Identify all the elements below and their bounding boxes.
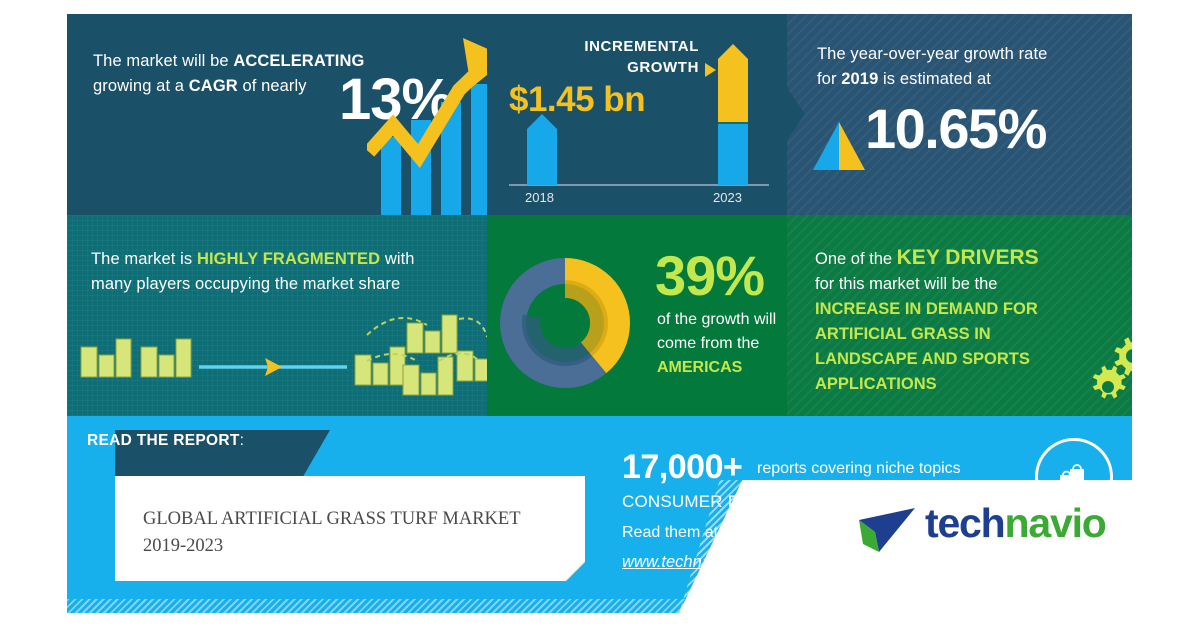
cagr-text-1: The market will be bbox=[93, 52, 233, 70]
infographic-canvas: The market will be ACCELERATING growing … bbox=[67, 14, 1132, 613]
drivers-text-2: for this market will be the bbox=[815, 275, 997, 293]
report-title: GLOBAL ARTIFICIAL GRASS TURF MARKET 2019… bbox=[143, 506, 563, 560]
frag-text-1-post: with bbox=[380, 250, 414, 268]
donut-sub-2: come from the bbox=[657, 335, 759, 352]
website-link[interactable]: www.technavio.com bbox=[622, 553, 768, 572]
building-cluster-left-1 bbox=[81, 339, 131, 377]
footer-row: READ THE REPORT: GLOBAL ARTIFICIAL GRASS… bbox=[67, 416, 1132, 613]
technavio-logo-icon bbox=[857, 504, 919, 556]
building-cluster-right-2 bbox=[407, 315, 457, 353]
incremental-growth-label: INCREMENTAL GROWTH bbox=[509, 36, 699, 78]
panel-fragmented: The market is HIGHLY FRAGMENTED with man… bbox=[67, 215, 487, 416]
report-title-line1: GLOBAL ARTIFICIAL GRASS TURF MARKET bbox=[143, 509, 521, 529]
fragmentation-diagram bbox=[67, 311, 487, 416]
panel-key-drivers: One of the KEY DRIVERS for this market w… bbox=[787, 215, 1132, 416]
frag-text-1-pre: The market is bbox=[91, 250, 197, 268]
dashed-arc-2 bbox=[459, 318, 487, 337]
report-count: 17,000+ bbox=[622, 448, 742, 487]
frag-text-1-bold: HIGHLY FRAGMENTED bbox=[197, 250, 380, 268]
yoy-statement: The year-over-year growth rate for 2019 … bbox=[817, 42, 1117, 92]
report-title-line2: 2019-2023 bbox=[143, 536, 223, 556]
year-label-end: 2023 bbox=[713, 190, 742, 205]
yoy-value: 10.65% bbox=[865, 96, 1046, 161]
panel-regional-share: 39% of the growth will come from the AME… bbox=[487, 215, 787, 416]
technavio-wordmark: technavio bbox=[925, 500, 1106, 547]
donut-chart bbox=[495, 253, 635, 393]
incremental-label-line1: INCREMENTAL bbox=[584, 38, 699, 55]
page-fold-corner bbox=[565, 561, 585, 581]
cagr-text-2-bold: CAGR bbox=[189, 77, 238, 95]
play-triangle-icon bbox=[705, 63, 716, 77]
building-cluster-right-1 bbox=[355, 347, 405, 385]
report-count-caption: reports covering niche topics bbox=[757, 460, 961, 478]
donut-sub-1: of the growth will bbox=[657, 311, 776, 328]
infographic-root: The market will be ACCELERATING growing … bbox=[0, 0, 1200, 627]
read-the-report-label: READ THE REPORT: bbox=[87, 432, 244, 450]
yoy-text-2-post: is estimated at bbox=[878, 70, 991, 88]
year-label-start: 2018 bbox=[525, 190, 554, 205]
panel-yoy-growth: The year-over-year growth rate for 2019 … bbox=[787, 14, 1132, 215]
panel-incremental-growth: INCREMENTAL GROWTH $1.45 bn 2018 2023 bbox=[487, 14, 787, 215]
up-triangle-icon bbox=[811, 120, 867, 172]
read-the-report-colon: : bbox=[240, 432, 245, 449]
donut-hole bbox=[540, 298, 590, 348]
drivers-highlight-4: APPLICATIONS bbox=[815, 375, 937, 393]
drivers-highlight-3: LANDSCAPE AND SPORTS bbox=[815, 350, 1030, 368]
gear-large-icon bbox=[1114, 337, 1132, 376]
drivers-highlight-1: INCREASE IN DEMAND FOR bbox=[815, 300, 1038, 318]
frag-text-2: many players occupying the market share bbox=[91, 275, 400, 293]
bar-2023-increment bbox=[718, 44, 748, 122]
logo-text-navio: navio bbox=[1005, 500, 1106, 546]
yoy-text-1: The year-over-year growth rate bbox=[817, 45, 1047, 63]
building-cluster-left-2 bbox=[141, 339, 191, 377]
cagr-text-2: growing at a bbox=[93, 77, 189, 95]
cagr-trend-line bbox=[369, 65, 485, 156]
drivers-highlight-2: ARTIFICIAL GRASS IN bbox=[815, 325, 991, 343]
shopping-bag-icon bbox=[1052, 455, 1096, 499]
donut-value: 39% bbox=[655, 243, 764, 308]
cagr-bar-chart bbox=[367, 32, 487, 215]
panel-divider-chevron bbox=[779, 76, 805, 152]
read-the-report-text: READ THE REPORT bbox=[87, 432, 240, 449]
cagr-bar-4 bbox=[471, 84, 487, 215]
incremental-label-line2: GROWTH bbox=[627, 59, 699, 76]
drivers-text-1-bold: KEY DRIVERS bbox=[897, 246, 1039, 269]
report-card[interactable]: GLOBAL ARTIFICIAL GRASS TURF MARKET 2019… bbox=[115, 476, 585, 581]
panel-cagr: The market will be ACCELERATING growing … bbox=[67, 14, 487, 215]
triangle-left-half bbox=[813, 122, 839, 170]
gears-icon bbox=[1083, 327, 1132, 407]
top-row: The market will be ACCELERATING growing … bbox=[67, 14, 1132, 215]
donut-caption: of the growth will come from the AMERICA… bbox=[657, 308, 787, 380]
drivers-statement: One of the KEY DRIVERS for this market w… bbox=[815, 245, 1105, 397]
middle-row: The market is HIGHLY FRAGMENTED with man… bbox=[67, 215, 1132, 416]
segment-label: CONSUMER DISCRETIONARY bbox=[622, 492, 870, 512]
incremental-growth-value: $1.45 bn bbox=[509, 80, 645, 120]
triangle-right-half bbox=[839, 122, 865, 170]
logo-text-tech: tech bbox=[925, 500, 1005, 546]
building-cluster-right-4 bbox=[457, 343, 487, 381]
read-them-at-label: Read them at: bbox=[622, 524, 723, 542]
bar-2018 bbox=[527, 114, 557, 185]
donut-region: AMERICAS bbox=[657, 359, 742, 376]
drivers-text-1-pre: One of the bbox=[815, 250, 897, 268]
bar-2023-base bbox=[718, 124, 748, 185]
yoy-year: 2019 bbox=[841, 70, 878, 88]
building-cluster-right-3 bbox=[403, 357, 453, 395]
gear-small-icon bbox=[1093, 366, 1126, 399]
cagr-bar-1 bbox=[381, 137, 401, 215]
cagr-text-3: of nearly bbox=[238, 77, 307, 95]
yoy-text-2-pre: for bbox=[817, 70, 841, 88]
footer-hatch-strip bbox=[67, 599, 1132, 613]
fragmented-statement: The market is HIGHLY FRAGMENTED with man… bbox=[91, 247, 487, 297]
